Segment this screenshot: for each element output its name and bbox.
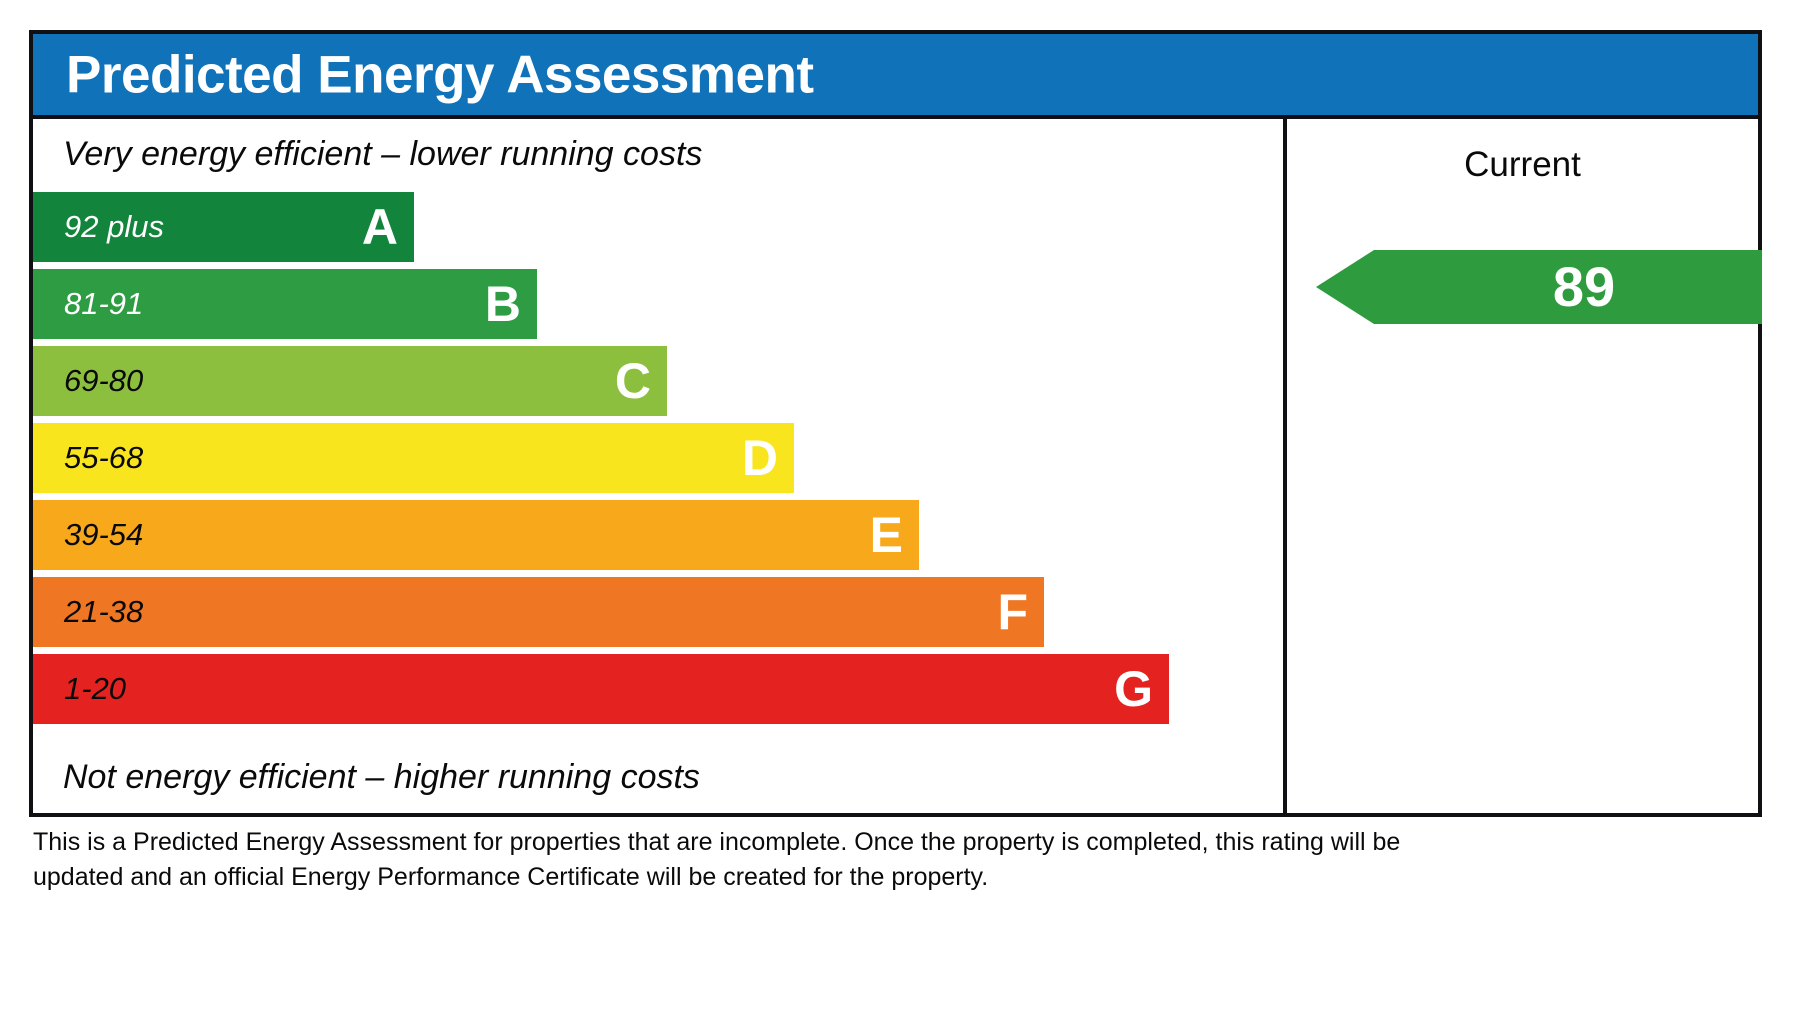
page-title: Predicted Energy Assessment [66, 44, 813, 105]
very-efficient-note: Very energy efficient – lower running co… [63, 135, 702, 174]
band-range-label: 21-38 [64, 594, 143, 630]
energy-band-d: 55-68D [33, 423, 794, 493]
current-rating-value: 89 [1316, 250, 1762, 324]
energy-certificate-page: Predicted Energy Assessment Very energy … [0, 0, 1800, 1012]
energy-band-f: 21-38F [33, 577, 1044, 647]
band-range-label: 69-80 [64, 363, 143, 399]
certificate-frame: Predicted Energy Assessment Very energy … [29, 30, 1762, 817]
certificate-body: Very energy efficient – lower running co… [33, 119, 1758, 813]
energy-band-c: 69-80C [33, 346, 667, 416]
band-letter-label: F [997, 587, 1028, 637]
band-range-label: 55-68 [64, 440, 143, 476]
energy-band-b: 81-91B [33, 269, 537, 339]
band-range-label: 81-91 [64, 286, 143, 322]
band-letter-label: A [362, 202, 398, 252]
band-letter-label: D [742, 433, 778, 483]
band-range-label: 39-54 [64, 517, 143, 553]
band-letter-label: E [870, 510, 903, 560]
current-column-header: Current [1287, 145, 1758, 185]
band-letter-label: C [615, 356, 651, 406]
energy-band-g: 1-20G [33, 654, 1169, 724]
energy-band-a: 92 plusA [33, 192, 414, 262]
current-rating-column: Current 89 [1287, 119, 1758, 813]
band-range-label: 92 plus [64, 209, 164, 245]
band-letter-label: B [485, 279, 521, 329]
title-banner: Predicted Energy Assessment [33, 34, 1758, 119]
energy-band-e: 39-54E [33, 500, 919, 570]
band-range-label: 1-20 [64, 671, 126, 707]
band-letter-label: G [1114, 664, 1153, 714]
not-efficient-note: Not energy efficient – higher running co… [63, 758, 700, 797]
energy-band-list: 92 plusA81-91B69-80C55-68D39-54E21-38F1-… [33, 192, 1169, 731]
efficiency-scale-column: Very energy efficient – lower running co… [33, 119, 1283, 813]
disclaimer-text: This is a Predicted Energy Assessment fo… [33, 825, 1433, 894]
